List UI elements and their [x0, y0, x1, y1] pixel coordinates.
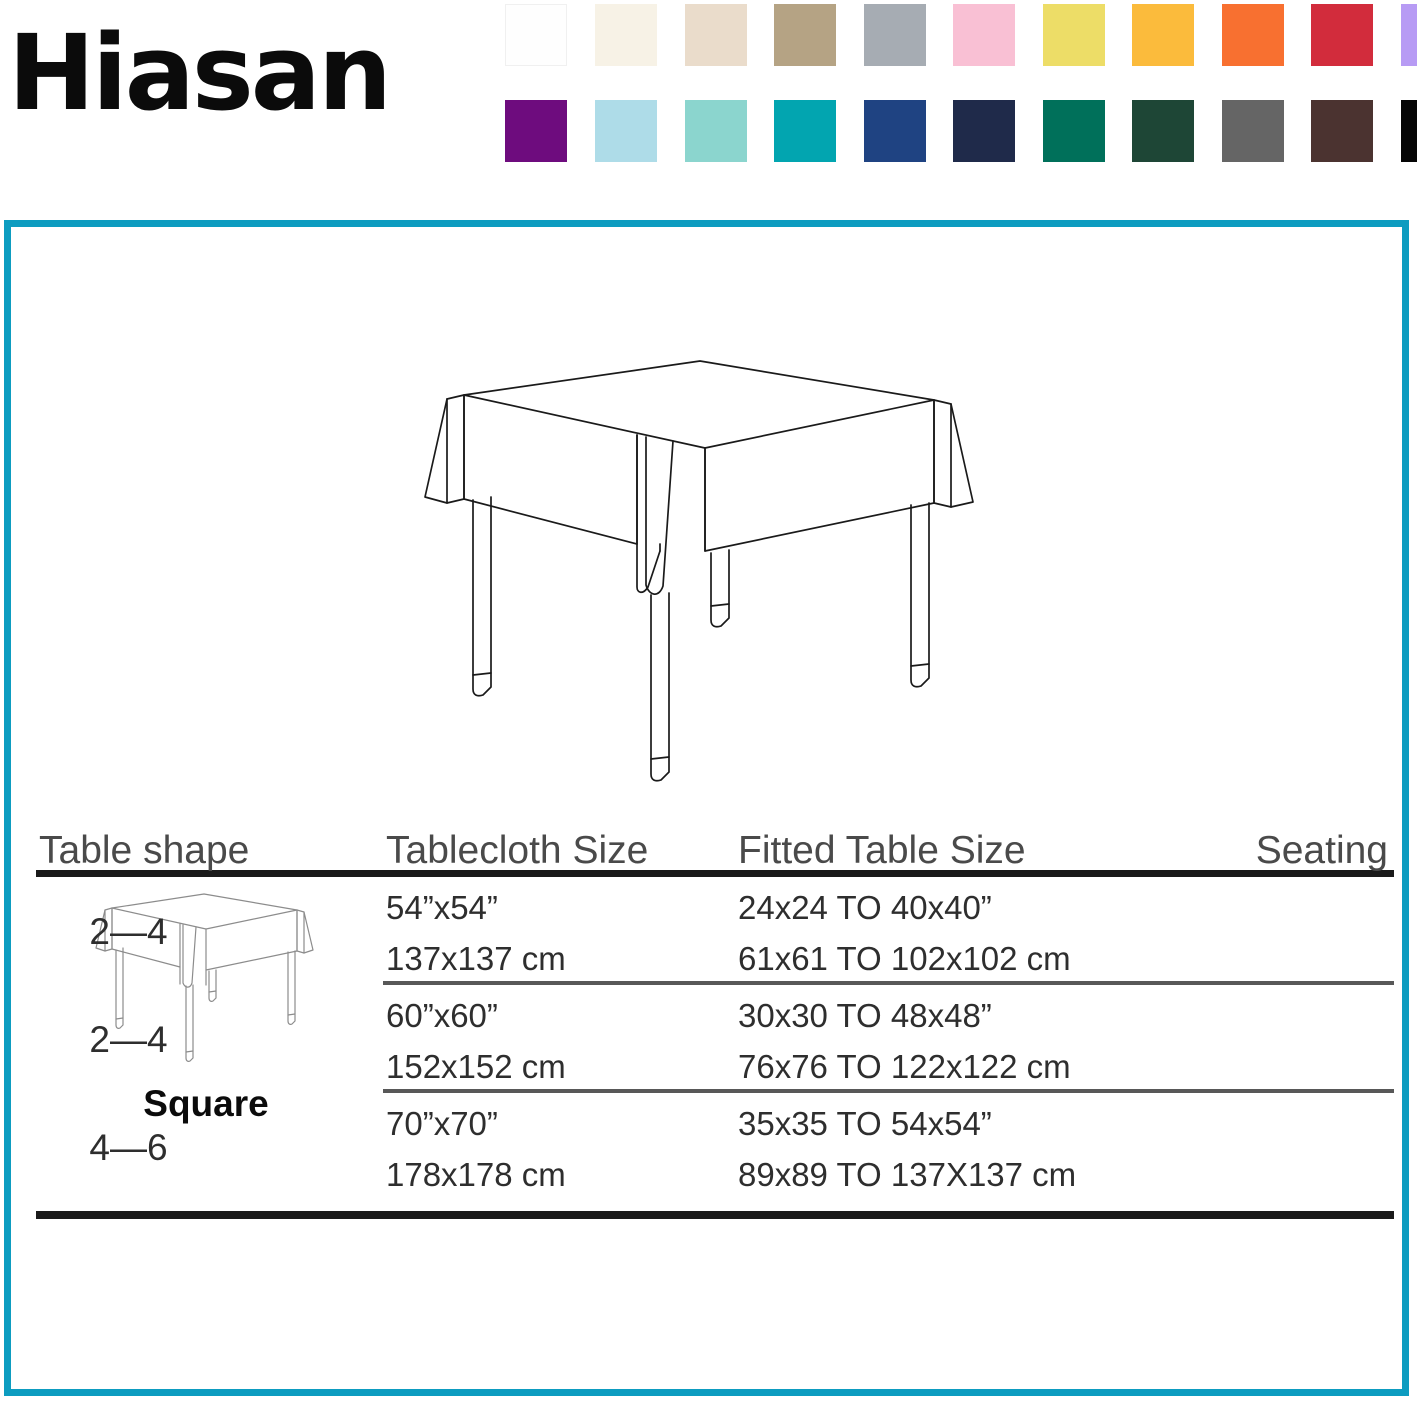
tablecloth-size-cell: 54”x54” 137x137 cm	[386, 877, 726, 985]
fitted-table-size-cell: 30x30 TO 48x48” 76x76 TO 122x122 cm	[738, 985, 1208, 1093]
fitted-table-size-cm: 89x89 TO 137X137 cm	[738, 1158, 1076, 1191]
brand-logo: Hiasan	[8, 8, 478, 138]
color-swatch-light-blue[interactable]	[595, 100, 657, 162]
color-swatch-navy[interactable]	[953, 100, 1015, 162]
size-chart-panel: Table shape Tablecloth Size Fitted Table…	[4, 220, 1409, 1396]
fitted-table-size-cm: 76x76 TO 122x122 cm	[738, 1050, 1071, 1083]
color-swatch-red[interactable]	[1311, 4, 1373, 66]
fitted-table-size-cell: 35x35 TO 54x54” 89x89 TO 137X137 cm	[738, 1093, 1208, 1201]
color-swatch-royal-blue[interactable]	[864, 100, 926, 162]
color-swatch-forest-green[interactable]	[1132, 100, 1194, 162]
tablecloth-size-cm: 152x152 cm	[386, 1050, 566, 1083]
color-swatch-lavender[interactable]	[1401, 4, 1417, 66]
seating-cell: 2—4	[31, 877, 226, 985]
color-swatch-aqua[interactable]	[685, 100, 747, 162]
fitted-table-size-inches: 30x30 TO 48x48”	[738, 999, 992, 1032]
top-banner: Hiasan	[0, 0, 1417, 200]
table-bottom-rule	[36, 1211, 1394, 1219]
fitted-table-size-cell: 24x24 TO 40x40” 61x61 TO 102x102 cm	[738, 877, 1208, 985]
fitted-table-size-inches: 24x24 TO 40x40”	[738, 891, 992, 924]
color-swatch-gold[interactable]	[1132, 4, 1194, 66]
tablecloth-size-cell: 70”x70” 178x178 cm	[386, 1093, 726, 1201]
color-swatch-dark-gray[interactable]	[1222, 100, 1284, 162]
seating-cell: 4—6	[31, 1093, 226, 1201]
size-table-body: Square 54”x54” 137x137 cm 24x24 TO 40x40…	[31, 877, 1396, 1203]
seating-cell: 2—4	[31, 985, 226, 1093]
color-swatch-brown[interactable]	[1311, 100, 1373, 162]
tablecloth-size-cm: 137x137 cm	[386, 942, 566, 975]
color-swatch-row-2	[505, 100, 1417, 168]
color-swatch-emerald[interactable]	[1043, 100, 1105, 162]
column-header-tablecloth-size: Tablecloth Size	[386, 831, 648, 870]
table-row: 70”x70” 178x178 cm 35x35 TO 54x54” 89x89…	[31, 1093, 1396, 1201]
tablecloth-size-cm: 178x178 cm	[386, 1158, 566, 1191]
column-header-fitted-table-size: Fitted Table Size	[738, 831, 1026, 870]
fitted-table-size-cm: 61x61 TO 102x102 cm	[738, 942, 1071, 975]
column-header-seating: Seating	[1256, 831, 1388, 870]
color-swatch-grid	[505, 4, 1417, 174]
color-swatch-row-1	[505, 4, 1417, 72]
color-swatch-orange[interactable]	[1222, 4, 1284, 66]
tablecloth-size-cell: 60”x60” 152x152 cm	[386, 985, 726, 1093]
color-swatch-pink[interactable]	[953, 4, 1015, 66]
column-header-table-shape: Table shape	[39, 831, 249, 870]
color-swatch-teal[interactable]	[774, 100, 836, 162]
table-row: 54”x54” 137x137 cm 24x24 TO 40x40” 61x61…	[31, 877, 1396, 985]
draped-square-table-illustration	[411, 337, 991, 807]
fitted-table-size-inches: 35x35 TO 54x54”	[738, 1107, 992, 1140]
color-swatch-black[interactable]	[1401, 100, 1417, 162]
color-swatch-ivory[interactable]	[595, 4, 657, 66]
tablecloth-size-inches: 54”x54”	[386, 891, 498, 924]
color-swatch-white[interactable]	[505, 4, 567, 66]
color-swatch-beige[interactable]	[685, 4, 747, 66]
table-row: 60”x60” 152x152 cm 30x30 TO 48x48” 76x76…	[31, 985, 1396, 1093]
tablecloth-size-inches: 60”x60”	[386, 999, 498, 1032]
size-table: Table shape Tablecloth Size Fitted Table…	[31, 812, 1396, 1219]
size-table-header-row: Table shape Tablecloth Size Fitted Table…	[31, 812, 1396, 870]
tablecloth-size-inches: 70”x70”	[386, 1107, 498, 1140]
color-swatch-purple[interactable]	[505, 100, 567, 162]
color-swatch-taupe[interactable]	[774, 4, 836, 66]
color-swatch-gray[interactable]	[864, 4, 926, 66]
color-swatch-yellow[interactable]	[1043, 4, 1105, 66]
